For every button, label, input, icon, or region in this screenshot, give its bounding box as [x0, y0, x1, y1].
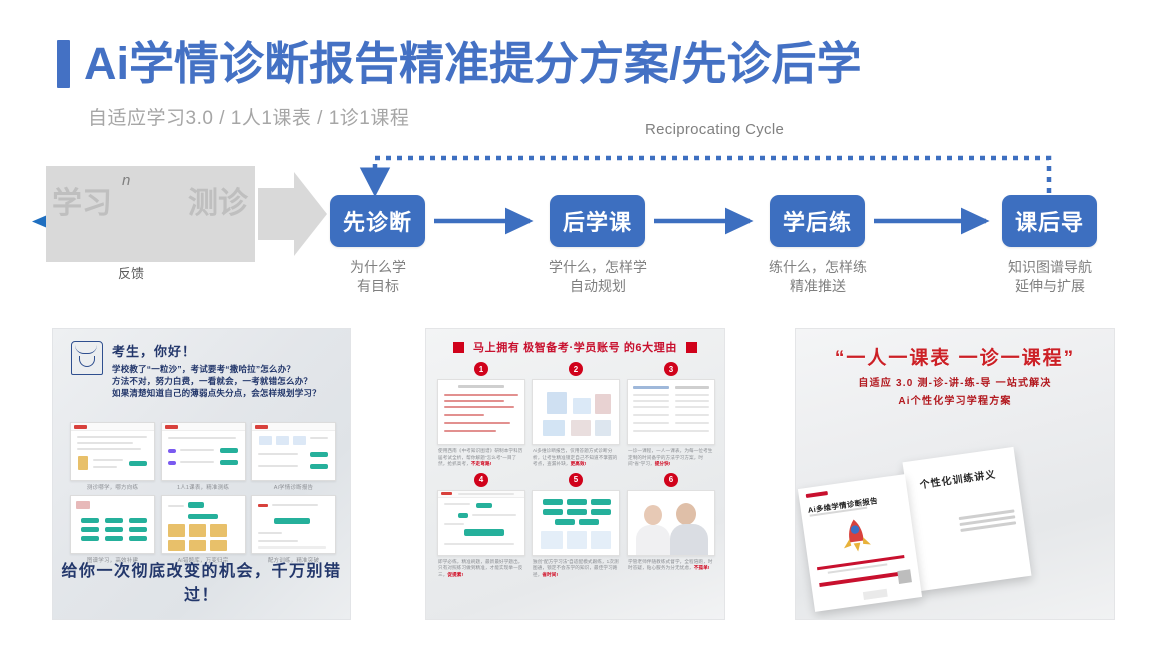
qr-code-icon	[897, 569, 912, 584]
poster-middle-heading: 马上拥有 极智备考·学员账号 的6大理由	[426, 339, 724, 355]
app-screenshot-thumb	[251, 495, 336, 554]
reciprocating-cycle-label: Reciprocating Cycle	[645, 121, 784, 138]
flow-step-2-label: 后学课	[563, 205, 632, 237]
poster-left-header: 考生，你好！ 学校教了“一粒沙”，考试要考“撒哈拉”怎么办？ 方法不对，努力白费…	[71, 341, 321, 399]
page-title: Ai学情诊断报告精准提分方案/先诊后学	[57, 40, 862, 88]
thumbnail-cell[interactable]: 测诊哪学，哪方向练	[70, 422, 155, 491]
reason-caption: 即学必练，精准刷题，最新最好学题出，只有对照练习做到精准，才能实现举一反三，促提…	[438, 559, 524, 579]
reason-badge: 1	[474, 362, 488, 376]
booklet-front: Ai多维学情诊断报告	[798, 474, 922, 612]
flow-step-4-caption: 知识图谱导航 延伸与扩展	[970, 258, 1130, 296]
flow-step-3-caption-line2: 精准推送	[738, 277, 898, 296]
reason-badge: 2	[569, 362, 583, 376]
reason-badge: 6	[664, 473, 678, 487]
flow-step-2-caption-line1: 学什么，怎样学	[518, 258, 678, 277]
flow-step-2-caption-line2: 自动规划	[518, 277, 678, 296]
reason-caption: Ai多维诊断报告，仅用答题方式诊断分析，让考生精准锁定自己不知道不掌握的考点，查…	[533, 448, 619, 468]
app-screenshot-thumb	[70, 422, 155, 481]
reason-item[interactable]: 2 Ai多维诊断报告，仅用答题方式诊断分析，让考生精准锁定自己不知道不掌握的考点…	[533, 362, 619, 468]
title-text: Ai学情诊断报告精准提分方案/先诊后学	[84, 40, 862, 88]
reason-caption: 独创“配方学习法”自适配模式跟练，1次测图通，锁定不会东学的知识，最佳学习路径，…	[533, 559, 619, 579]
poster-right-headline: “一人一课表 一诊一课程”	[796, 343, 1114, 370]
flow-step-2[interactable]: 后学课	[550, 195, 645, 247]
red-square-icon	[686, 342, 697, 353]
reason-thumbnail	[627, 379, 715, 445]
flow-step-4-caption-line2: 延伸与扩展	[970, 277, 1130, 296]
brand-logo-icon	[806, 491, 828, 498]
reason-badge: 4	[474, 473, 488, 487]
flow-step-4[interactable]: 课后导	[1002, 195, 1097, 247]
app-screenshot-thumb	[70, 495, 155, 554]
loop-learn-label: 学习	[52, 178, 112, 222]
thumbnail-cell[interactable]: Ai学情诊断报告	[251, 422, 336, 491]
reason-item[interactable]: 3	[628, 362, 714, 468]
reason-caption-highlight: 不走弯路!	[471, 461, 491, 466]
reason-caption: 一诊一课程，一人一课表，为每一位考生定制的时间备学的方法学习方案，时间“省”学习…	[628, 448, 714, 468]
poster-middle-heading-text: 马上拥有 极智备考·学员账号 的6大理由	[473, 339, 677, 355]
poster-right-sub1: 自适应 3.0 测-诊-讲-练-导 一站式解决	[796, 374, 1114, 389]
flow-step-3-caption-line1: 练什么，怎样练	[738, 258, 898, 277]
flow-step-1[interactable]: 先诊断	[330, 195, 425, 247]
app-screenshot-thumb	[161, 422, 246, 481]
reason-item[interactable]: 4 即学必练，精准刷题，最新最好学题出，只有对照练习做到精准，才能实现举一反三，…	[438, 473, 524, 579]
reason-row-2: 4 即学必练，精准刷题，最新最好学题出，只有对照练习做到精准，才能实现举一反三，…	[438, 473, 714, 579]
reason-caption: 学管老师伴随教练式督学，全程陪跑，时时答疑，贴心服务为分无忧虑，不孤单!	[628, 559, 714, 572]
poster-left-line-2: 方法不对，努力白费，一看就会，一考就错怎么办？	[112, 375, 321, 387]
flow-step-2-caption: 学什么，怎样学 自动规划	[518, 258, 678, 296]
reason-caption: 使用西南《中考知识图谱》研制本学科历届考试全析，帮你解题“怎么考”一目了然，抢抓…	[438, 448, 524, 468]
reason-badge: 3	[664, 362, 678, 376]
flow-step-1-caption-line2: 有目标	[298, 277, 458, 296]
poster-left-footer: 给你一次彻底改变的机会，千万别错过！	[53, 557, 350, 605]
thumbnail-cell[interactable]: 配方训练，精准突破	[251, 495, 336, 564]
flow-step-4-label: 课后导	[1015, 205, 1084, 237]
loop-feedback-label: 反馈	[118, 263, 144, 282]
poster-middle[interactable]: 马上拥有 极智备考·学员账号 的6大理由 1 使用西南《中考知识图	[425, 328, 725, 620]
rocket-icon	[837, 515, 876, 555]
poster-left-line-3: 如果清楚知道自己的薄弱点失分点，会怎样规划学习？	[112, 387, 321, 399]
app-screenshot-thumb	[161, 495, 246, 554]
poster-left-line-1: 学校教了“一粒沙”，考试要考“撒哈拉”怎么办？	[112, 363, 321, 375]
poster-left-text-block: 考生，你好！ 学校教了“一粒沙”，考试要考“撒哈拉”怎么办？ 方法不对，努力白费…	[112, 341, 321, 399]
booklet-front-footer-mark	[863, 589, 888, 600]
thumbnail-cell[interactable]: 图谱学习，高效补建	[70, 495, 155, 564]
reason-caption-highlight: 不孤单!	[694, 565, 710, 570]
reason-caption-highlight: 省时间!	[542, 572, 558, 577]
red-square-icon	[453, 342, 464, 353]
reason-item[interactable]: 5 独创“配方学习法”自适配模式跟练，1次测图通，	[533, 473, 619, 579]
thumbnail-row-1: 测诊哪学，哪方向练 1人1课表，精准测练	[70, 422, 336, 491]
flow-step-1-label: 先诊断	[343, 205, 412, 237]
flow-step-3-caption: 练什么，怎样练 精准推送	[738, 258, 898, 296]
thumbnail-caption: Ai学情诊断报告	[252, 483, 335, 491]
reason-caption-highlight: 更高效!	[571, 461, 587, 466]
reason-item[interactable]: 1 使用西南《中考知识图谱》研制本学科历届考试全析，帮你解题“怎么考”一目了然，…	[438, 362, 524, 468]
reason-thumbnail	[627, 490, 715, 556]
page-subtitle: 自适应学习3.0 / 1人1课表 / 1诊1课程	[88, 103, 409, 130]
poster-left-thumbnail-grid: 测诊哪学，哪方向练 1人1课表，精准测练	[70, 422, 336, 568]
thumbnail-cell[interactable]: Ai错题库，万变归宗	[161, 495, 246, 564]
thumbnail-caption: 测诊哪学，哪方向练	[71, 483, 154, 491]
flow-step-3[interactable]: 学后练	[770, 195, 865, 247]
student-avatar-icon	[71, 341, 103, 375]
reason-thumbnail	[437, 490, 525, 556]
reason-badge: 5	[569, 473, 583, 487]
reason-thumbnail	[437, 379, 525, 445]
reason-thumbnail	[532, 379, 620, 445]
booklet-back-meta	[959, 509, 1017, 535]
poster-middle-grid: 1 使用西南《中考知识图谱》研制本学科历届考试全析，帮你解题“怎么考”一目了然，…	[438, 362, 714, 584]
title-accent-bar	[57, 40, 70, 88]
thumbnail-cell[interactable]: 1人1课表，精准测练	[161, 422, 246, 491]
app-screenshot-thumb	[251, 422, 336, 481]
poster-right-sub2: Ai个性化学习学程方案	[796, 392, 1114, 407]
thumbnail-caption: 1人1课表，精准测练	[162, 483, 245, 491]
reason-thumbnail	[532, 490, 620, 556]
flow-step-1-caption-line1: 为什么学	[298, 258, 458, 277]
booklet-back-title: 个性化训练讲义	[919, 466, 997, 492]
flow-step-3-label: 学后练	[783, 205, 852, 237]
flow-step-4-caption-line1: 知识图谱导航	[970, 258, 1130, 277]
poster-left-greeting: 考生，你好！	[112, 341, 321, 360]
thumbnail-row-2: 图谱学习，高效补建 Ai错题库，万变归宗	[70, 495, 336, 564]
reason-caption-highlight: 促提素!	[447, 572, 463, 577]
reason-item[interactable]: 6 学管老师伴随教练式督学，全程陪跑，时时答疑，贴心服务为分无忧虑，不孤单!	[628, 473, 714, 579]
slide-canvas: Ai学情诊断报告精准提分方案/先诊后学 自适应学习3.0 / 1人1课表 / 1…	[0, 0, 1170, 658]
poster-left[interactable]: 考生，你好！ 学校教了“一粒沙”，考试要考“撒哈拉”怎么办？ 方法不对，努力白费…	[52, 328, 351, 620]
reason-row-1: 1 使用西南《中考知识图谱》研制本学科历届考试全析，帮你解题“怎么考”一目了然，…	[438, 362, 714, 468]
poster-right[interactable]: “一人一课表 一诊一课程” 自适应 3.0 测-诊-讲-练-导 一站式解决 Ai…	[795, 328, 1115, 620]
flow-step-1-caption: 为什么学 有目标	[298, 258, 458, 296]
reason-caption-highlight: 提分快!	[655, 461, 671, 466]
booklet-front-rule-2	[819, 571, 907, 587]
loop-learn-superscript: n	[122, 172, 130, 189]
booklet-back: 个性化训练讲义	[902, 447, 1031, 591]
loop-test-label: 测诊	[188, 178, 248, 222]
